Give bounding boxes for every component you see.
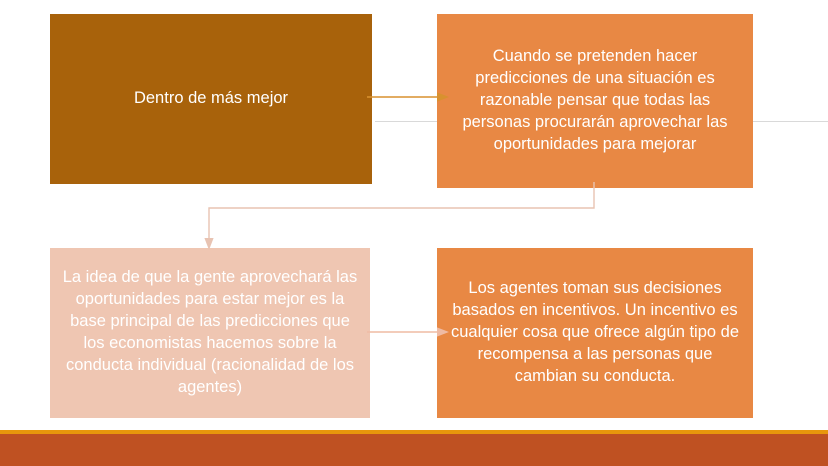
slide-canvas: Dentro de más mejor Cuando se pretenden … <box>0 0 828 466</box>
flow-box-los-agentes-toman-decisiones[interactable]: Los agentes toman sus decisiones basados… <box>437 248 753 418</box>
connector-arrow-cuando-to-idea <box>195 180 615 255</box>
bottom-banner <box>0 430 828 466</box>
flow-box-dentro-de-mas-mejor[interactable]: Dentro de más mejor <box>50 14 372 184</box>
flow-box-cuando-se-pretenden[interactable]: Cuando se pretenden hacer predicciones d… <box>437 14 753 188</box>
flow-box-cuando-label: Cuando se pretenden hacer predicciones d… <box>447 46 743 156</box>
flow-box-dentro-label: Dentro de más mejor <box>60 88 362 110</box>
flow-box-agentes-label: Los agentes toman sus decisiones basados… <box>447 278 743 388</box>
flow-box-la-idea-de-que-la-gente[interactable]: La idea de que la gente aprovechará las … <box>50 248 370 418</box>
flow-box-idea-label: La idea de que la gente aprovechará las … <box>60 267 360 399</box>
bottom-banner-accent-line <box>0 430 828 434</box>
